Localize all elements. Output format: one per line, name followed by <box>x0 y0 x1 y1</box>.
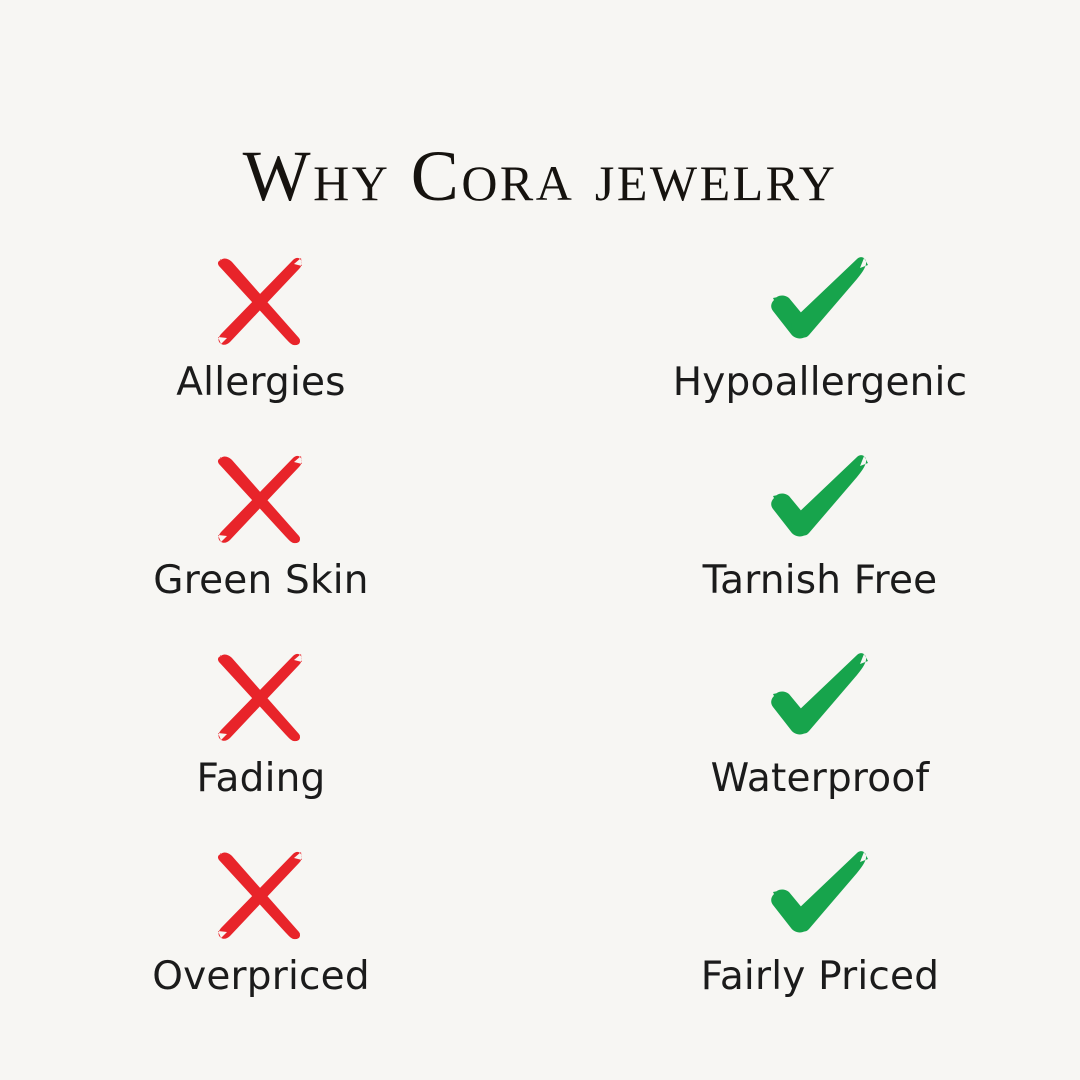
comparison-cell-positive: Tarnish Free <box>530 444 1080 642</box>
comparison-label-negative: Overpriced <box>152 956 370 999</box>
check-icon <box>760 246 880 356</box>
check-icon <box>760 642 880 752</box>
comparison-label-positive: Hypoallergenic <box>673 362 967 405</box>
comparison-label-negative: Fading <box>196 758 325 801</box>
title-container: Why Cora jewelry <box>0 92 1080 188</box>
comparison-label-positive: Tarnish Free <box>703 560 938 603</box>
comparison-cell-positive: Hypoallergenic <box>530 246 1080 444</box>
comparison-cell-positive: Fairly Priced <box>530 840 1080 1038</box>
check-icon <box>760 444 880 554</box>
cross-icon <box>201 840 321 950</box>
cross-icon <box>201 444 321 554</box>
check-icon <box>760 840 880 950</box>
comparison-label-positive: Fairly Priced <box>701 956 939 999</box>
cross-icon <box>201 642 321 752</box>
comparison-label-positive: Waterproof <box>711 758 930 801</box>
comparison-cell-positive: Waterproof <box>530 642 1080 840</box>
poster-root: Why Cora jewelry Allergies <box>0 0 1080 1080</box>
comparison-cell-negative: Allergies <box>0 246 549 444</box>
comparison-label-negative: Allergies <box>176 362 345 405</box>
comparison-cell-negative: Fading <box>0 642 549 840</box>
cross-icon <box>201 246 321 356</box>
page-title: Why Cora jewelry <box>243 140 838 212</box>
comparison-cell-negative: Overpriced <box>0 840 549 1038</box>
comparison-cell-negative: Green Skin <box>0 444 549 642</box>
comparison-label-negative: Green Skin <box>153 560 368 603</box>
comparison-grid: Allergies Hypoallergenic <box>0 246 1080 1038</box>
